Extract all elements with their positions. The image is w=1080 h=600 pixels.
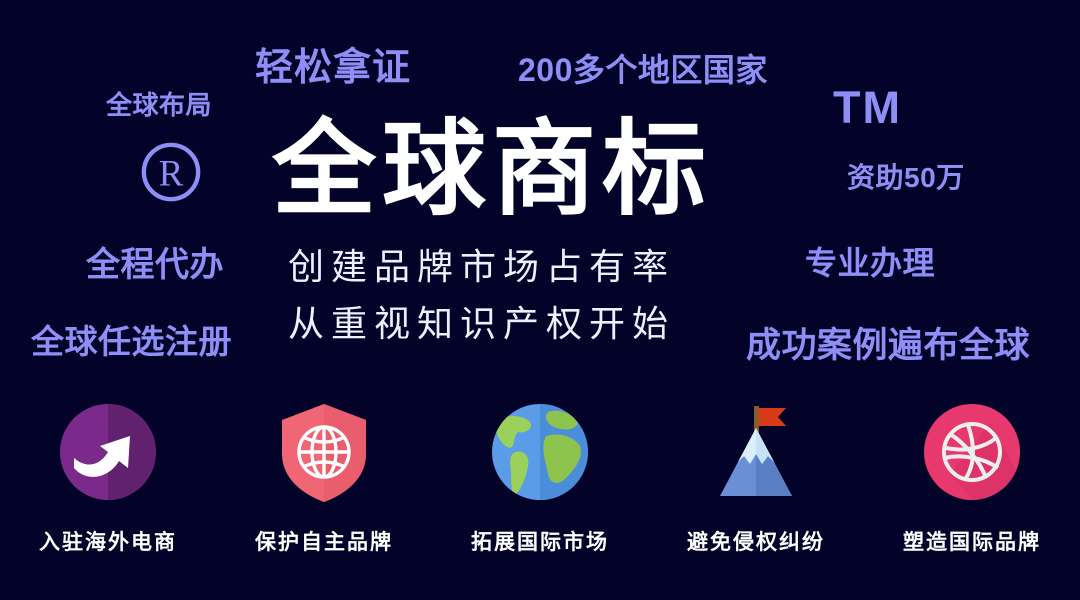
- keyword-cases-worldwide: 成功案例遍布全球: [746, 328, 1030, 363]
- keyword-global-layout: 全球布局: [106, 92, 212, 118]
- keyword-professional-service: 专业办理: [805, 247, 935, 279]
- keyword-funding: 资助50万: [847, 164, 965, 192]
- dribbble-ball-circle-icon: [920, 400, 1024, 504]
- feature-label: 塑造国际品牌: [903, 526, 1041, 556]
- feature-label: 入驻海外电商: [39, 526, 177, 556]
- feature-item-shape-brand[interactable]: 塑造国际品牌: [864, 400, 1080, 580]
- keyword-easy-certificate: 轻松拿证: [255, 49, 411, 87]
- feature-label: 避免侵权纠纷: [687, 526, 825, 556]
- registered-trademark-icon: R: [140, 141, 202, 203]
- keyword-tm: TM: [833, 85, 902, 130]
- feature-item-avoid-infringement[interactable]: 避免侵权纠纷: [648, 400, 864, 580]
- promo-banner: 全球布局 轻松拿证 200多个地区国家 TM 资助50万 全程代办 全球任选注册…: [0, 0, 1080, 600]
- feature-item-protect-brand[interactable]: 保护自主品牌: [216, 400, 432, 580]
- page-title: 全球商标: [272, 118, 712, 222]
- feature-item-overseas-ecommerce[interactable]: 入驻海外电商: [0, 400, 216, 580]
- curved-arrow-circle-icon: [56, 400, 160, 504]
- subtitle-line-2: 从重视知识产权开始: [288, 306, 675, 342]
- subtitle-line-1: 创建品牌市场占有率: [288, 249, 675, 285]
- shield-globe-icon: [272, 400, 376, 504]
- keyword-countries-count: 200多个地区国家: [518, 54, 768, 86]
- keyword-full-agency: 全程代办: [86, 248, 224, 282]
- mountain-flag-icon: [704, 400, 808, 504]
- keyword-any-country-registration: 全球任选注册: [31, 325, 232, 358]
- feature-label: 保护自主品牌: [255, 526, 393, 556]
- feature-label: 拓展国际市场: [471, 526, 609, 556]
- svg-text:R: R: [159, 153, 184, 194]
- feature-row: 入驻海外电商 保护自主品牌: [0, 400, 1080, 580]
- earth-globe-icon: [488, 400, 592, 504]
- feature-item-expand-market[interactable]: 拓展国际市场: [432, 400, 648, 580]
